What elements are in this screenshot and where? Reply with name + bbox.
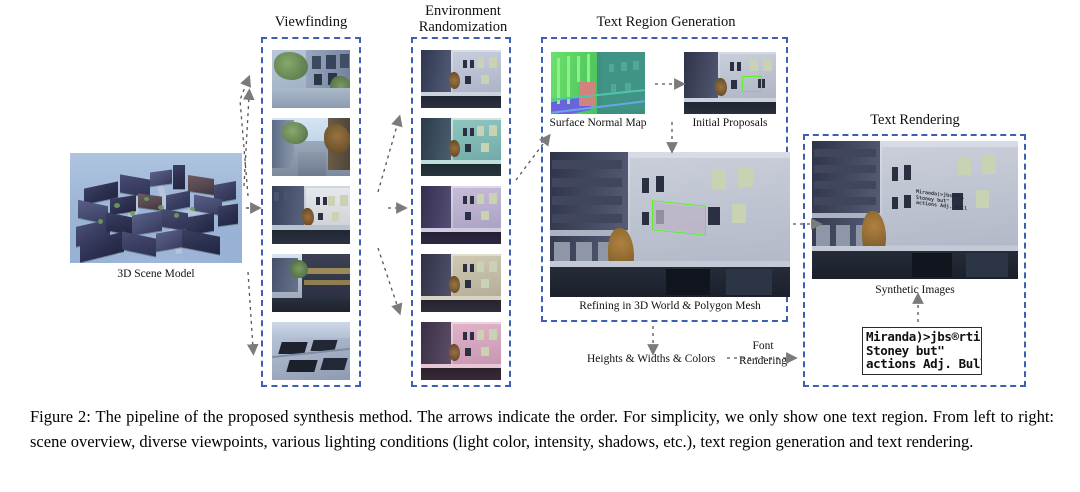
environment-variant-3 [421,186,501,244]
viewfinding-thumb-4 [272,254,350,312]
viewfinding-thumb-1 [272,50,350,108]
stage-title-viewfinding: Viewfinding [261,14,361,30]
initial-proposal-box [742,76,762,92]
arrow-scene-to-view-top2 [244,96,249,186]
environment-variant-1 [421,50,501,108]
refined-text-region-box [652,200,706,236]
stage-title-text-rendering: Text Rendering [855,112,975,128]
surface-normal-map-caption: Surface Normal Map [543,117,653,129]
text-sample-line-3: actions Adj. Bull [866,357,978,371]
figure-caption: Figure 2: The pipeline of the proposed s… [30,404,1054,454]
scene-3d-model-caption: 3D Scene Model [70,268,242,280]
initial-proposals-caption: Initial Proposals [680,117,780,129]
scene-3d-model-image [70,153,242,263]
label-font-rendering: Font Rendering [733,339,793,369]
surface-normal-map-image [551,52,645,114]
stage-title-text-region: Text Region Generation [556,14,776,30]
refining-3d-world-image [550,152,790,297]
arrow-scene-to-view-bottom [248,272,253,348]
rendered-text-sample: Miranda)>jbs®rti Stoney but" actions Adj… [862,327,982,375]
label-heights-widths-colors: Heights & Widths & Colors [587,353,715,365]
environment-variant-2 [421,118,501,176]
arrow-view-to-env-bottom [378,248,398,308]
synthetic-images-caption: Synthetic Images [812,284,1018,296]
refining-caption: Refining in 3D World & Polygon Mesh [550,300,790,312]
text-sample-line-1: Miranda)>jbs®rti [866,330,978,344]
environment-variant-4 [421,254,501,312]
environment-variant-5 [421,322,501,380]
figure-pipeline-diagram: 3D Scene Model Viewfinding [0,0,1080,400]
viewfinding-thumb-2 [272,118,350,176]
synthetic-image: Miranda)>jbs®rti Stoney but" actions Adj… [812,141,1018,279]
stage-title-environment: Environment Randomization [404,3,522,35]
text-sample-line-2: Stoney but" [866,344,978,358]
viewfinding-thumb-3 [272,186,350,244]
initial-proposals-image [684,52,776,114]
arrow-view-to-env-top [378,122,398,192]
viewfinding-thumb-5 [272,322,350,380]
